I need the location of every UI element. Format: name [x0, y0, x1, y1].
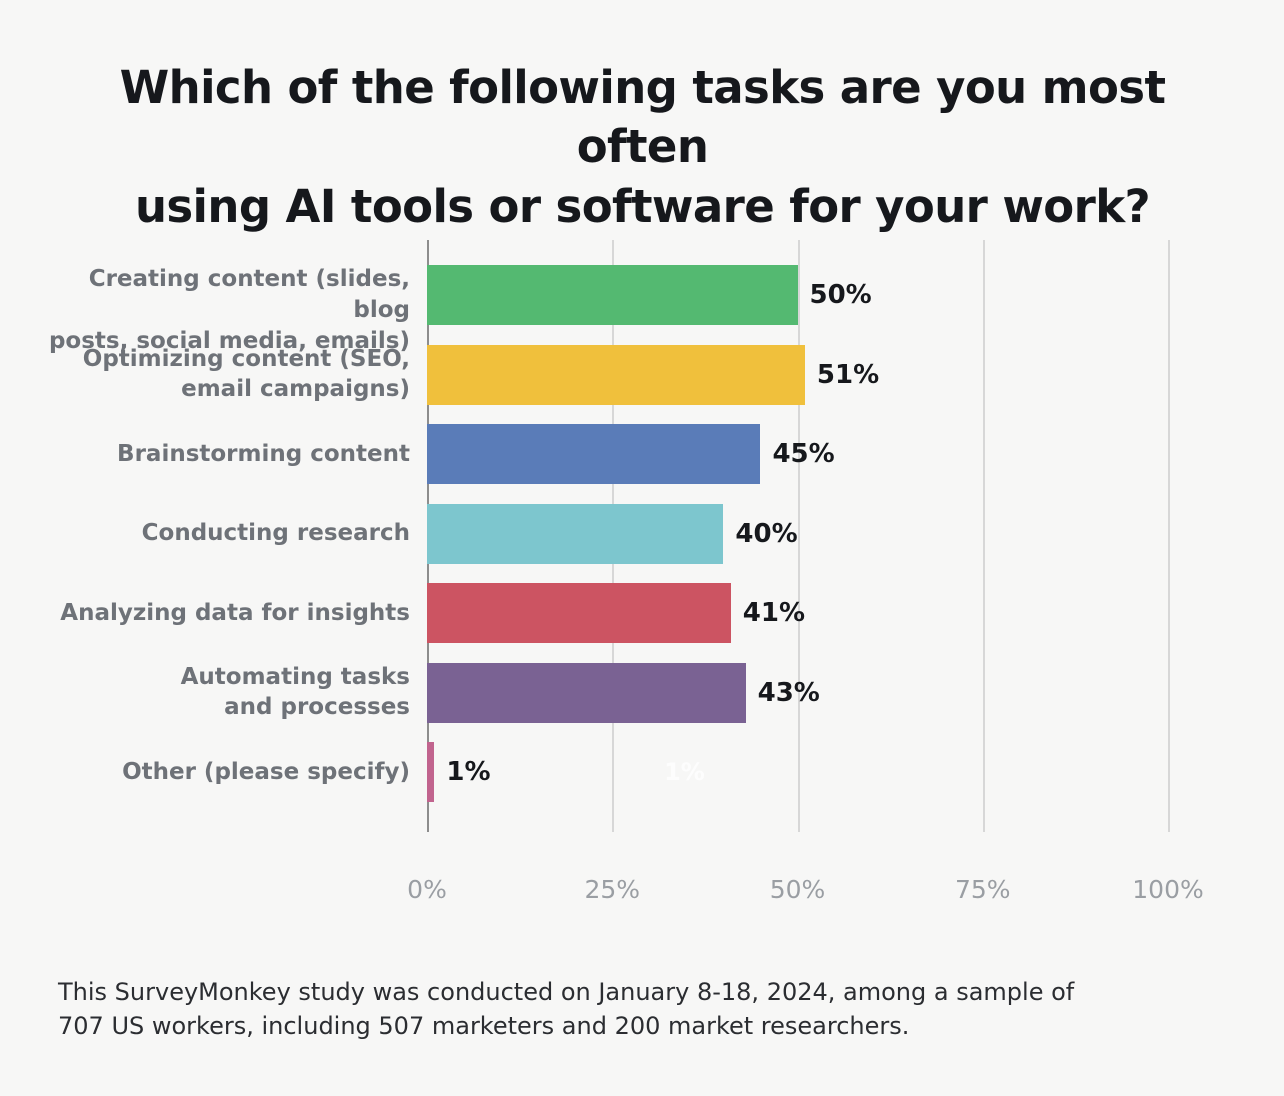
bar[interactable]	[427, 345, 805, 405]
bar-row: 50%	[427, 265, 1187, 325]
category-label: Creating content (slides, blog posts, so…	[40, 264, 410, 356]
page-title: Which of the following tasks are you mos…	[110, 58, 1175, 236]
category-label: Other (please specify)	[40, 757, 410, 788]
x-tick-label: 75%	[955, 875, 1011, 904]
bar-value-label: 51%	[805, 345, 879, 405]
x-tick-label: 100%	[1132, 875, 1203, 904]
bar-row: 41%	[427, 583, 1187, 643]
bar-value-label: 1%	[434, 742, 490, 802]
bar-row: 40%	[427, 504, 1187, 564]
category-label: Conducting research	[40, 518, 410, 549]
bar[interactable]	[427, 265, 798, 325]
category-label: Analyzing data for insights	[40, 598, 410, 629]
x-tick-label: 50%	[770, 875, 826, 904]
bar[interactable]	[427, 663, 746, 723]
bar-value-annotation: 1%	[664, 742, 705, 802]
category-label: Automating tasks and processes	[40, 662, 410, 723]
x-axis-tick-labels: 0%25%50%75%100%	[427, 875, 1168, 915]
chart-root: Which of the following tasks are you mos…	[0, 0, 1284, 1096]
bar[interactable]	[427, 742, 434, 802]
bar-row: 45%	[427, 424, 1187, 484]
bar[interactable]	[427, 504, 723, 564]
bar-value-label: 45%	[760, 424, 834, 484]
bar-row: 1%1%	[427, 742, 1187, 802]
bar-row: 43%	[427, 663, 1187, 723]
category-labels: Creating content (slides, blog posts, so…	[40, 240, 410, 832]
category-label: Brainstorming content	[40, 439, 410, 470]
bar[interactable]	[427, 424, 760, 484]
x-tick-label: 0%	[407, 875, 447, 904]
bar-row: 51%	[427, 345, 1187, 405]
bar-value-label: 43%	[746, 663, 820, 723]
bars-layer: 50%51%45%40%41%43%1%1%	[427, 240, 1187, 832]
bar-value-label: 41%	[731, 583, 805, 643]
bar[interactable]	[427, 583, 731, 643]
footnote: This SurveyMonkey study was conducted on…	[58, 975, 1098, 1043]
category-label: Optimizing content (SEO, email campaigns…	[40, 344, 410, 405]
bar-value-label: 40%	[723, 504, 797, 564]
x-tick-label: 25%	[584, 875, 640, 904]
bar-value-label: 50%	[798, 265, 872, 325]
